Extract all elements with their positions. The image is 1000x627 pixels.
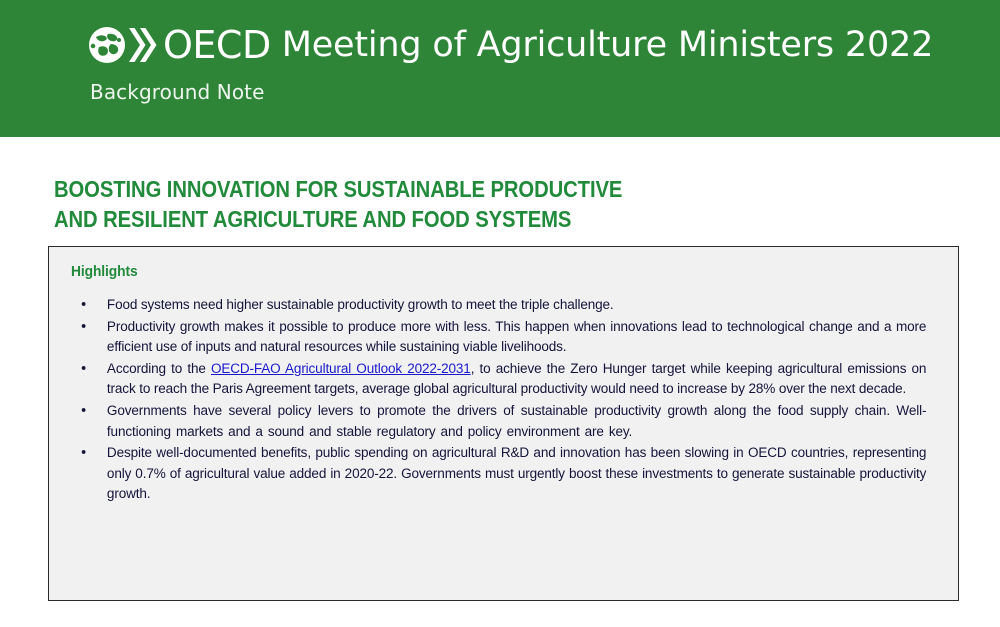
page-title: BOOSTING INNOVATION FOR SUSTAINABLE PROD… — [54, 175, 758, 235]
brand-row: OECD Meeting of Agriculture Ministers 20… — [88, 22, 933, 68]
oecd-fao-agricultural-outlook-link[interactable]: OECD-FAO Agricultural Outlook 2022-2031 — [211, 361, 471, 377]
list-item: Productivity growth makes it possible to… — [63, 317, 926, 358]
header-content: OECD Meeting of Agriculture Ministers 20… — [88, 22, 933, 104]
list-item-text-before-link: According to the — [107, 361, 211, 377]
header-subtitle: Background Note — [90, 80, 933, 104]
page-title-line-2: AND RESILIENT AGRICULTURE AND FOOD SYSTE… — [54, 205, 758, 235]
list-item: According to the OECD-FAO Agricultural O… — [63, 359, 926, 400]
page-header-band: OECD Meeting of Agriculture Ministers 20… — [0, 0, 1000, 137]
page-title-line-1: BOOSTING INNOVATION FOR SUSTAINABLE PROD… — [54, 175, 758, 205]
oecd-wordmark: OECD — [163, 26, 271, 64]
list-item: Despite well-documented benefits, public… — [63, 443, 926, 505]
header-title: Meeting of Agriculture Ministers 2022 — [282, 28, 933, 63]
highlights-heading: Highlights — [71, 263, 138, 280]
list-item: Governments have several policy levers t… — [63, 401, 926, 442]
oecd-globe-chevron-logo — [88, 25, 160, 65]
highlights-bullet-list: Food systems need higher sustainable pro… — [63, 295, 944, 505]
highlights-box: Highlights Food systems need higher sust… — [48, 246, 959, 601]
list-item: Food systems need higher sustainable pro… — [63, 295, 926, 316]
